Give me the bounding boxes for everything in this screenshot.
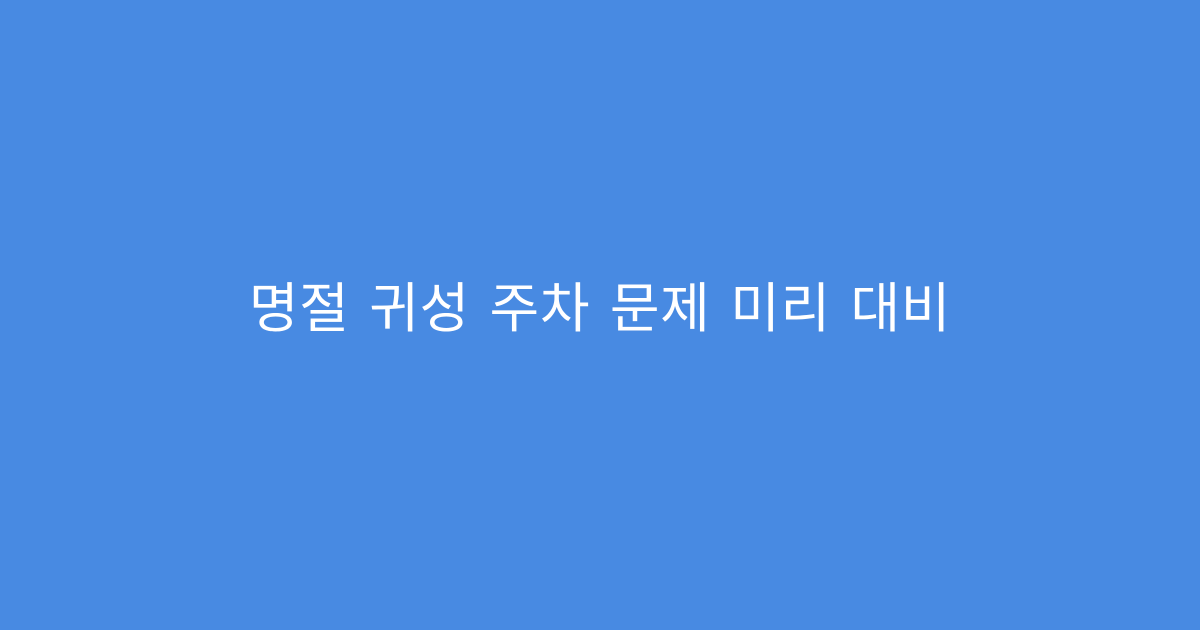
page-title: 명절 귀성 주차 문제 미리 대비	[50, 277, 1150, 342]
social-share-card: 명절 귀성 주차 문제 미리 대비	[0, 0, 1200, 630]
